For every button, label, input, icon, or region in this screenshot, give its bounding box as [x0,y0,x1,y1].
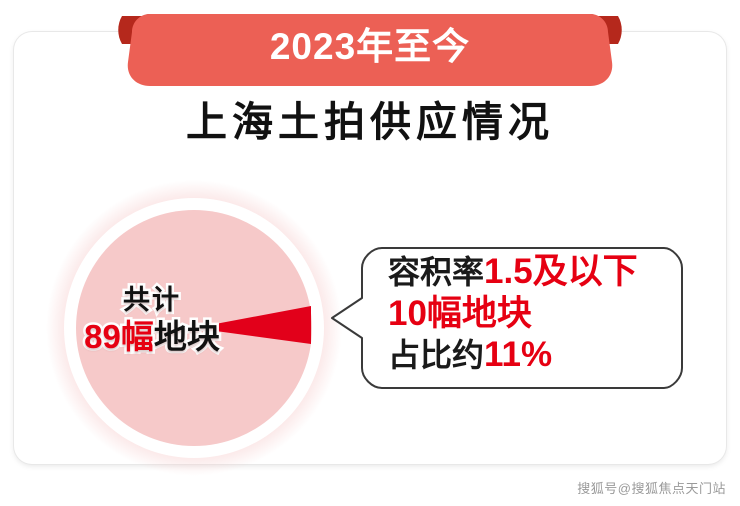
callout-row-2: 10幅地块 [388,293,688,334]
callout-row-3: 占比约11% [388,334,688,376]
watermark: 搜狐号@搜狐焦点天门站 [577,478,726,497]
banner-label: 2023年至今 [0,26,740,68]
callout-text: 容积率1.5及以下 10幅地块 占比约11% [388,251,688,376]
page-title: 上海土拍供应情况 [0,97,740,147]
callout-row-3-value: 11% [484,335,552,374]
callout-row-1-value: 1.5及以下 [484,252,638,291]
pie-chart [44,178,344,478]
ribbon-banner: 2023年至今 [0,0,740,100]
callout-row-1: 容积率1.5及以下 [388,251,688,293]
infographic-canvas: 2023年至今 上海土拍供应情况 共计 [0,0,740,506]
callout-row-1-key: 容积率 [388,254,484,290]
callout-row-3-key: 占比约 [388,337,484,373]
